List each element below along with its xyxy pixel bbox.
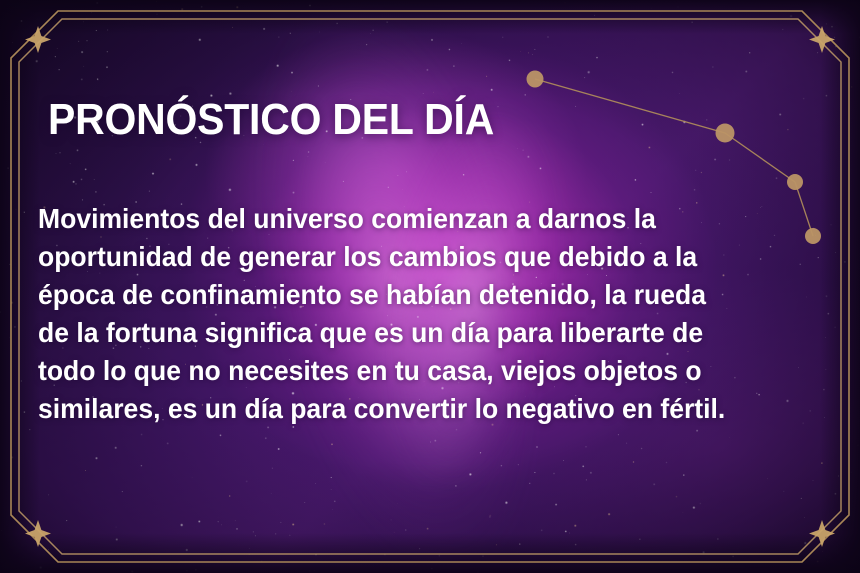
forecast-body-line: oportunidad de generar los cambios que d… (38, 238, 800, 276)
forecast-body-line: época de confinamiento se habían detenid… (38, 276, 800, 314)
forecast-body-line: de la fortuna significa que es un día pa… (38, 314, 800, 352)
forecast-body-line: similares, es un día para convertir lo n… (38, 390, 800, 428)
page-title: PRONÓSTICO DEL DÍA (48, 96, 494, 144)
horoscope-card: PRONÓSTICO DEL DÍA Movimientos del unive… (0, 0, 860, 573)
card-content: PRONÓSTICO DEL DÍA Movimientos del unive… (0, 0, 860, 573)
forecast-body-line: Movimientos del universo comienzan a dar… (38, 200, 800, 238)
forecast-body-line: todo lo que no necesites en tu casa, vie… (38, 352, 800, 390)
forecast-body-text: Movimientos del universo comienzan a dar… (38, 200, 800, 428)
